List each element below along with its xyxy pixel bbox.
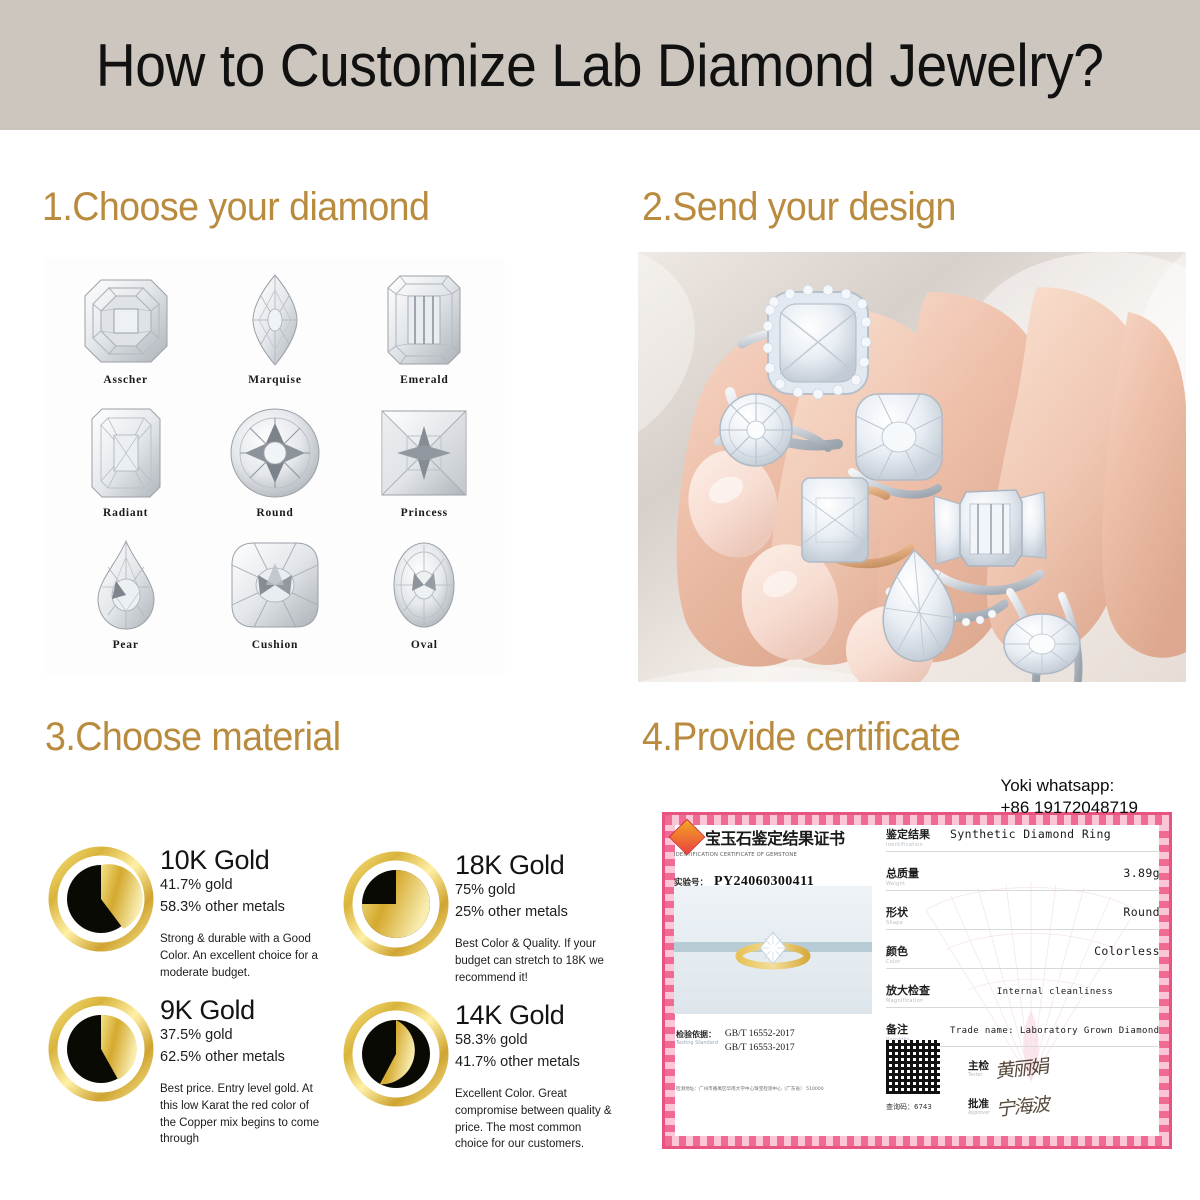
certificate-field-row: 放大检查Magnification Internal cleanliness [886,982,1160,1008]
diamond-shape-item[interactable]: Pear [51,537,200,670]
field-value: Round [950,905,1160,919]
gold-card-description: Best price. Entry level gold. At this lo… [160,1081,320,1148]
certificate-en-subtitle: IDENTIFICATION CERTIFICATE OF GEMSTONE [674,852,884,858]
standard-label-cn: 检验依据： [676,1030,716,1039]
field-value: Colorless [950,944,1160,958]
field-key-cn: 形状 [886,906,908,919]
gold-card-title: 10K Gold [160,846,325,874]
round-cut-diamond-icon [227,405,323,501]
diamond-shape-item[interactable]: Marquise [200,272,349,405]
gemstone-institute-logo-icon [669,819,706,856]
certificate-field-row: 颜色Color Colorless [886,943,1160,969]
field-key-en: Identification [886,842,950,848]
field-key-cn: 总质量 [886,867,919,880]
diamond-shape-label: Princess [401,507,448,519]
diamond-shape-label: Emerald [400,374,448,386]
oval-cut-diamond-icon [388,537,460,633]
gold-card-other-pct: 58.3% other metals [160,898,325,918]
gold-card-gold-pct: 37.5% gold [160,1026,325,1046]
certificate-signature-approver: 批准Approver 宁海波 [968,1092,1049,1119]
diamond-shape-label: Radiant [103,507,148,519]
field-key-cn: 颜色 [886,945,908,958]
princess-cut-diamond-icon [377,405,471,501]
diamond-shape-item[interactable]: Round [200,405,349,538]
diamond-shape-label: Round [256,507,293,519]
certificate-testing-standard: 检验依据： Testing Standard GB/T 16552-2017 G… [676,1028,795,1056]
certificate-address-note: 检测地址：广州市番禺区华南大学中心珠宝检测中心（广东省） 510000 [676,1086,824,1092]
hand-wearing-multiple-diamond-rings-photo [638,252,1186,682]
gold-ring-pie-icon [337,837,455,957]
certificate-query-code: 查询码：6743 [886,1102,932,1112]
signature-scribble: 黄丽娟 [995,1051,1050,1083]
gold-card-gold-pct: 41.7% gold [160,876,325,896]
signature-key-cn: 主检 [968,1060,989,1072]
certificate-field-row: 总质量Weight 3.89g [886,865,1160,891]
standard-line-2: GB/T 16553-2017 [725,1043,795,1053]
certificate-cn-title: 宝玉石鉴定结果证书 [705,825,845,849]
gold-card-title: 9K Gold [160,996,325,1024]
signature-scribble: 宁海波 [996,1089,1051,1121]
gold-option-card-9k[interactable]: 9K Gold 37.5% gold 62.5% other metals Be… [42,982,325,1142]
diamond-shape-label: Asscher [103,374,148,386]
gold-card-gold-pct: 75% gold [455,881,620,901]
diamond-shape-item[interactable]: Cushion [200,537,349,670]
certificate-field-row: 鉴定结果Identification Synthetic Diamond Rin… [886,826,1160,852]
cushion-cut-diamond-icon [228,537,322,633]
pear-cut-diamond-icon [92,537,160,633]
standard-label-en: Testing Standard [676,1040,718,1046]
gold-ring-pie-icon [337,987,455,1107]
field-key-en: Color [886,959,950,965]
asscher-cut-diamond-icon [79,272,173,368]
gold-card-other-pct: 25% other metals [455,903,620,923]
section-heading-send-design: 2.Send your design [642,185,956,230]
diamond-shapes-grid: Asscher Marquise [45,258,505,676]
diamond-solitaire-ring-photo [674,886,872,1014]
emerald-cut-diamond-icon [384,272,464,368]
diamond-shape-item[interactable]: Oval [350,537,499,670]
diamond-shape-label: Oval [411,639,438,651]
gold-ring-pie-icon [42,832,160,952]
certificate-image: 宝玉石鉴定结果证书 IDENTIFICATION CERTIFICATE OF … [662,812,1172,1149]
field-value: Internal cleanliness [950,987,1160,997]
field-key-en: Magnification [886,998,950,1004]
diamond-shape-item[interactable]: Asscher [51,272,200,405]
gold-card-title: 14K Gold [455,1001,620,1029]
diamond-shape-label: Marquise [248,374,301,386]
certificate-signature-tester: 主检Tester 黄丽娟 [968,1054,1048,1081]
radiant-cut-diamond-icon [88,405,164,501]
gold-card-gold-pct: 58.3% gold [455,1031,620,1051]
field-key-en: Weight [886,881,950,887]
whatsapp-number: +86 19172048719 [1000,797,1138,819]
diamond-shape-item[interactable]: Emerald [350,272,499,405]
field-key-cn: 鉴定结果 [886,828,930,841]
page-title: How to Customize Lab Diamond Jewelry? [96,31,1104,100]
gold-card-description: Excellent Color. Great compromise betwee… [455,1086,615,1153]
page-header-band: How to Customize Lab Diamond Jewelry? [0,0,1200,130]
gold-card-other-pct: 41.7% other metals [455,1053,620,1073]
field-value: 3.89g [950,866,1160,880]
signature-key-en: Approver [968,1111,990,1116]
diamond-shape-item[interactable]: Princess [350,405,499,538]
section-heading-choose-material: 3.Choose material [45,715,341,760]
certificate-field-row: 形状Shape Round [886,904,1160,930]
diamond-shape-label: Pear [113,639,139,651]
field-key-cn: 放大检查 [886,984,930,997]
qr-code-icon[interactable] [886,1040,940,1094]
field-key-en: Shape [886,920,950,926]
signature-key-en: Tester [968,1073,989,1078]
gold-card-other-pct: 62.5% other metals [160,1048,325,1068]
field-value: Synthetic Diamond Ring [950,827,1160,841]
marquise-cut-diamond-icon [247,272,303,368]
diamond-shape-label: Cushion [252,639,299,651]
gold-option-card-14k[interactable]: 14K Gold 58.3% gold 41.7% other metals E… [337,987,620,1147]
gold-ring-pie-icon [42,982,160,1102]
gold-card-description: Strong & durable with a Good Color. An e… [160,931,320,981]
gold-card-title: 18K Gold [455,851,620,879]
section-heading-provide-certificate: 4.Provide certificate [642,715,960,760]
whatsapp-label: Yoki whatsapp: [1000,775,1138,797]
standard-line-1: GB/T 16552-2017 [725,1029,795,1039]
diamond-shape-item[interactable]: Radiant [51,405,200,538]
section-heading-choose-diamond: 1.Choose your diamond [42,185,429,230]
gold-option-card-10k[interactable]: 10K Gold 41.7% gold 58.3% other metals S… [42,832,325,982]
whatsapp-contact-note: Yoki whatsapp: +86 19172048719 [1000,775,1138,820]
gold-option-card-18k[interactable]: 18K Gold 75% gold 25% other metals Best … [337,837,620,987]
gold-card-description: Best Color & Quality. If your budget can… [455,936,615,986]
signature-key-cn: 批准 [968,1098,989,1110]
